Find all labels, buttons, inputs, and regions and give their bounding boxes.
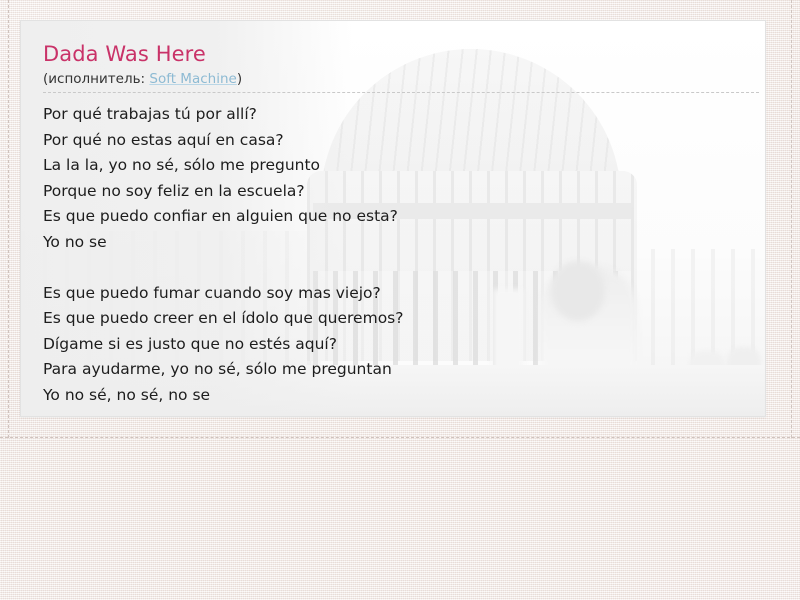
artist-suffix-label: ) <box>237 71 242 87</box>
guide-line-right <box>791 0 792 438</box>
lyric-line: Dígame si es justo que no estés aquí? <box>43 332 743 358</box>
lyrics-card: Dada Was Here (исполнитель: Soft Machine… <box>20 20 766 417</box>
guide-line-left <box>8 0 9 438</box>
lyric-line: Yo no sé, no sé, no se <box>43 383 743 409</box>
lyric-line: Porque no soy feliz en la escuela? <box>43 179 743 205</box>
lyric-line: Es que puedo creer en el ídolo que quere… <box>43 306 743 332</box>
lyric-line: La la la, yo no sé, sólo me pregunto <box>43 153 743 179</box>
card-content: Dada Was Here (исполнитель: Soft Machine… <box>21 21 765 408</box>
lyric-line: Por qué trabajas tú por allí? <box>43 102 743 128</box>
lyric-line: Es que puedo fumar cuando soy mas viejo? <box>43 281 743 307</box>
lyric-line: Por qué no estas aquí en casa? <box>43 128 743 154</box>
lyric-stanza-break <box>43 255 743 281</box>
lyric-line: Yo no se <box>43 230 743 256</box>
page-title: Dada Was Here <box>43 43 743 66</box>
artist-link[interactable]: Soft Machine <box>149 71 236 87</box>
guide-line-bottom <box>0 437 800 438</box>
lyrics-body: Por qué trabajas tú por allí?Por qué no … <box>43 102 743 408</box>
artist-prefix-label: (исполнитель: <box>43 71 149 87</box>
lyric-line: Es que puedo confiar en alguien que no e… <box>43 204 743 230</box>
title-separator <box>43 92 759 93</box>
lyric-line: Para ayudarme, yo no sé, sólo me pregunt… <box>43 357 743 383</box>
artist-line: (исполнитель: Soft Machine) <box>43 71 743 87</box>
